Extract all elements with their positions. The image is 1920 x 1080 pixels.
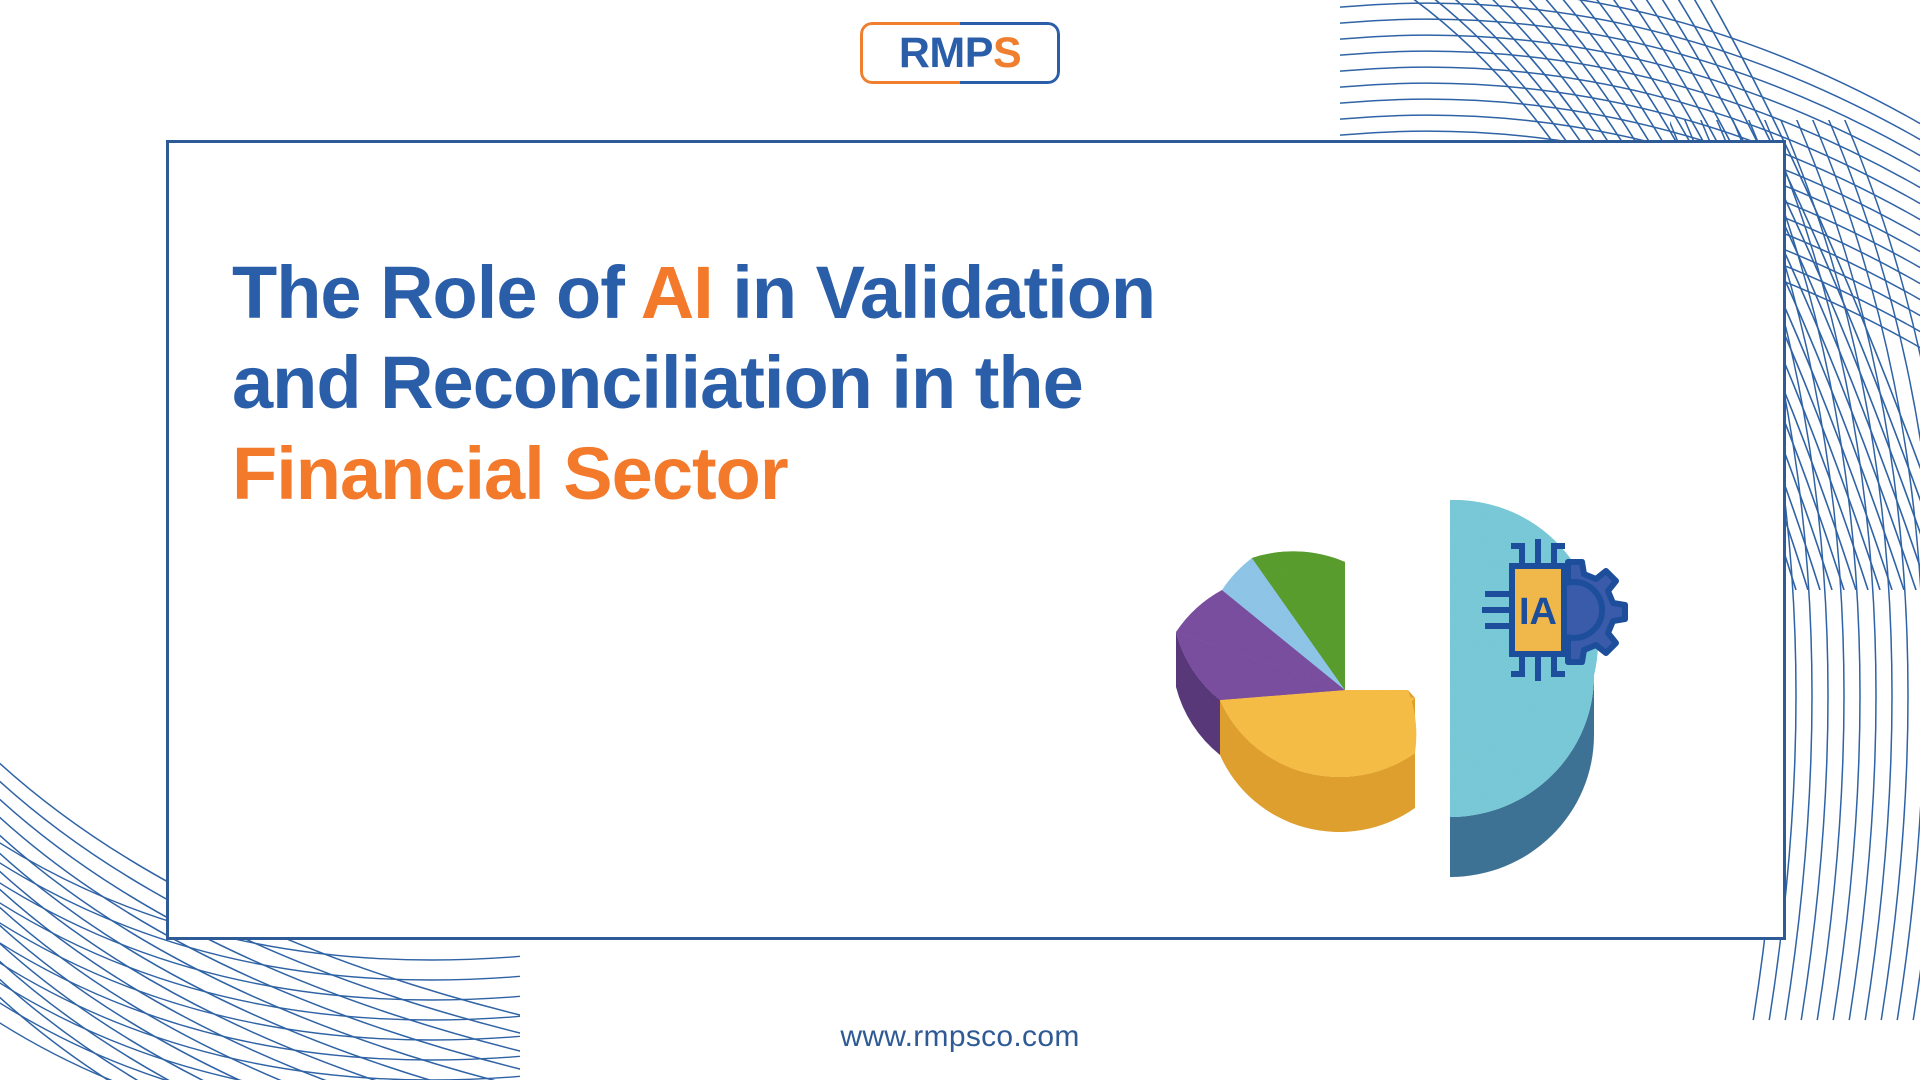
ai-chip-label: IA <box>1519 591 1557 633</box>
footer-website-url[interactable]: www.rmpsco.com <box>0 1020 1920 1054</box>
title-line-1: The Role of AI in Validation <box>232 248 1352 338</box>
slide-canvas: RMPS The Role of AI in Validation and Re… <box>0 0 1920 1080</box>
title-line-1-part-b: in Validation <box>713 251 1155 334</box>
title-line-1-part-a: The Role of <box>232 251 641 334</box>
logo-wordmark: RMPS <box>870 26 1050 80</box>
title-line-3: Financial Sector <box>232 429 1352 519</box>
page-title: The Role of AI in Validation and Reconci… <box>232 248 1352 519</box>
rmps-logo[interactable]: RMPS <box>860 22 1060 84</box>
title-line-2: and Reconciliation in the <box>232 338 1352 428</box>
logo-text-s: S <box>993 29 1021 78</box>
ai-chip-gear-icon: IA <box>1482 536 1630 684</box>
title-ai-accent: AI <box>641 251 713 334</box>
logo-text-rmp: RMP <box>899 29 993 78</box>
